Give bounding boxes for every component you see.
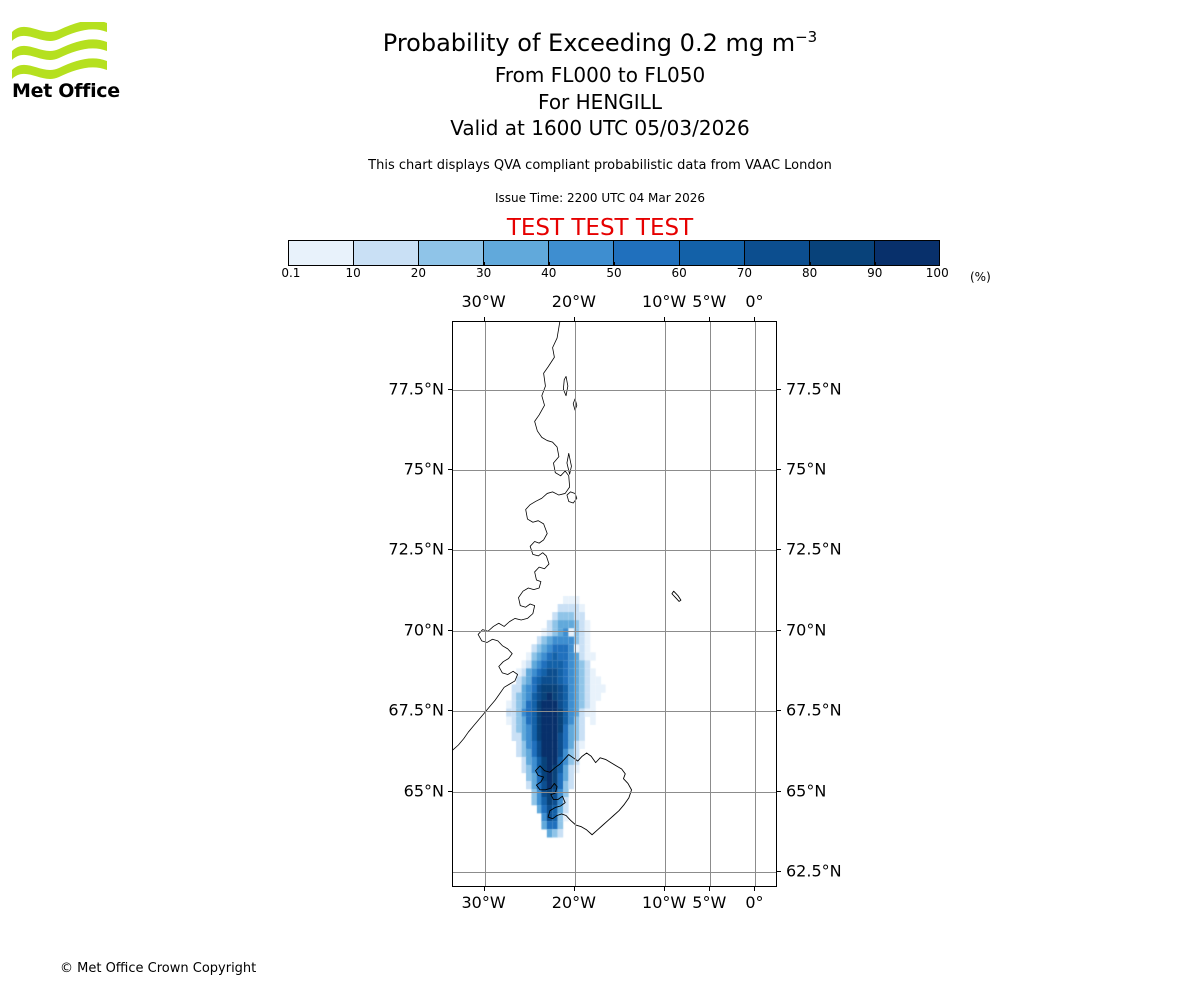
flight-level-subtitle: From FL000 to FL050	[0, 63, 1200, 87]
colorbar-tickmark-40	[549, 262, 550, 266]
colorbar-tick-50: 50	[606, 266, 621, 280]
lon-label-top-10°W: 10°W	[642, 292, 686, 311]
colorbar-tickmark-30	[484, 262, 485, 266]
lon-label-bottom-10°W: 10°W	[642, 893, 686, 912]
lat-tickmark-right-75	[777, 469, 781, 470]
gridline-lat-77.5	[453, 390, 776, 391]
lat-label-right-77.5: 77.5°N	[786, 379, 842, 398]
lat-label-left-65: 65°N	[404, 781, 444, 800]
colorbar-band-0	[289, 241, 353, 265]
colorbar-band-9	[874, 241, 939, 265]
gridline-lat-75	[453, 470, 776, 471]
lon-label-top-30°W: 30°W	[462, 292, 506, 311]
volcano-name-subtitle: For HENGILL	[0, 90, 1200, 114]
lon-tickmark-5°W-bottom	[709, 887, 710, 891]
lat-label-left-70: 70°N	[404, 620, 444, 639]
lon-tickmark-5°W-top	[709, 317, 710, 321]
lon-label-bottom-30°W: 30°W	[462, 893, 506, 912]
copyright-footer: © Met Office Crown Copyright	[60, 961, 256, 976]
lon-tickmark-0°-bottom	[754, 887, 755, 891]
lat-tickmark-left-70	[448, 630, 452, 631]
coastline-greenland-island-3	[567, 453, 571, 474]
page-title-text: Probability of Exceeding 0.2 mg m	[383, 29, 795, 57]
lat-label-left-77.5: 77.5°N	[388, 379, 444, 398]
lat-tickmark-left-65	[448, 791, 452, 792]
valid-time-subtitle: Valid at 1600 UTC 05/03/2026	[0, 116, 1200, 140]
gridline-lon-30°W	[485, 322, 486, 886]
page-title: Probability of Exceeding 0.2 mg m−3	[0, 28, 1200, 57]
gridline-lat-62.5	[453, 872, 776, 873]
colorbar-tick-70: 70	[737, 266, 752, 280]
colorbar-tickmark-100	[939, 262, 940, 266]
gridline-lat-67.5	[453, 711, 776, 712]
colorbar-units-label: (%)	[970, 270, 991, 284]
colorbar-tick-20: 20	[411, 266, 426, 280]
lon-tickmark-30°W-top	[484, 317, 485, 321]
colorbar-band-6	[679, 241, 744, 265]
colorbar-tick-30: 30	[476, 266, 491, 280]
page-title-exponent: −3	[795, 28, 817, 46]
colorbar-tick-10: 10	[346, 266, 361, 280]
lon-tickmark-0°-top	[754, 317, 755, 321]
lat-tickmark-right-67.5	[777, 710, 781, 711]
lat-tickmark-right-70	[777, 630, 781, 631]
colorbar-tickmark-50	[614, 262, 615, 266]
lon-label-bottom-5°W: 5°W	[692, 893, 726, 912]
colorbar-band-8	[809, 241, 874, 265]
lat-tickmark-right-62.5	[777, 871, 781, 872]
gridline-lat-72.5	[453, 550, 776, 551]
colorbar-band-3	[483, 241, 548, 265]
lat-label-right-75: 75°N	[786, 459, 826, 478]
chart-page: Met Office Probability of Exceeding 0.2 …	[0, 0, 1200, 1000]
lat-tickmark-left-75	[448, 469, 452, 470]
lat-tickmark-right-77.5	[777, 389, 781, 390]
lat-label-right-62.5: 62.5°N	[786, 861, 842, 880]
coastline-overlay	[453, 322, 776, 886]
map-inner	[453, 322, 776, 886]
lat-label-left-67.5: 67.5°N	[388, 701, 444, 720]
lat-tickmark-right-65	[777, 791, 781, 792]
lat-tickmark-left-72.5	[448, 549, 452, 550]
colorbar-band-7	[744, 241, 809, 265]
gridline-lon-0°	[755, 322, 756, 886]
colorbar-band-2	[418, 241, 483, 265]
colorbar-band-1	[353, 241, 418, 265]
gridline-lat-65	[453, 792, 776, 793]
colorbar-tickmark-60	[679, 262, 680, 266]
lon-label-top-0°: 0°	[745, 292, 763, 311]
issue-time-text: Issue Time: 2200 UTC 04 Mar 2026	[0, 191, 1200, 205]
lat-label-right-70: 70°N	[786, 620, 826, 639]
lat-tickmark-left-67.5	[448, 710, 452, 711]
gridline-lon-20°W	[575, 322, 576, 886]
colorbar-tickmark-20	[418, 262, 419, 266]
lon-label-bottom-0°: 0°	[745, 893, 763, 912]
qva-note: This chart displays QVA compliant probab…	[0, 158, 1200, 173]
coastline-greenland-east	[453, 322, 570, 750]
lat-label-right-65: 65°N	[786, 781, 826, 800]
colorbar-tick-80: 80	[802, 266, 817, 280]
lat-tickmark-left-77.5	[448, 389, 452, 390]
coastline-greenland-island-1	[563, 376, 567, 395]
map-plot-area	[452, 321, 777, 887]
lon-tickmark-10°W-bottom	[664, 887, 665, 891]
lat-label-right-72.5: 72.5°N	[786, 540, 842, 559]
colorbar-tick-100: 100	[926, 266, 949, 280]
test-banner: TEST TEST TEST	[0, 215, 1200, 241]
colorbar-tickmark-0.1	[288, 262, 289, 266]
colorbar-band-4	[548, 241, 613, 265]
lon-label-top-20°W: 20°W	[552, 292, 596, 311]
lon-tickmark-20°W-top	[574, 317, 575, 321]
colorbar-tick-0.1: 0.1	[281, 266, 300, 280]
colorbar-tick-40: 40	[541, 266, 556, 280]
colorbar-tickmark-10	[353, 262, 354, 266]
lon-tickmark-10°W-top	[664, 317, 665, 321]
colorbar-tick-labels: 0.1102030405060708090100	[288, 266, 940, 284]
lat-label-right-67.5: 67.5°N	[786, 701, 842, 720]
gridline-lat-70	[453, 631, 776, 632]
lon-label-bottom-20°W: 20°W	[552, 893, 596, 912]
coastline-jan-mayen	[672, 591, 681, 601]
gridline-lon-10°W	[665, 322, 666, 886]
colorbar-tickmark-80	[810, 262, 811, 266]
lon-label-top-5°W: 5°W	[692, 292, 726, 311]
colorbar-tickmark-90	[875, 262, 876, 266]
lat-tickmark-right-72.5	[777, 549, 781, 550]
lon-tickmark-20°W-bottom	[574, 887, 575, 891]
colorbar-tick-60: 60	[672, 266, 687, 280]
coastline-iceland	[536, 753, 632, 835]
colorbar-tick-90: 90	[867, 266, 882, 280]
colorbar-tickmark-70	[744, 262, 745, 266]
lon-tickmark-30°W-bottom	[484, 887, 485, 891]
gridline-lon-5°W	[710, 322, 711, 886]
lat-label-left-75: 75°N	[404, 459, 444, 478]
colorbar-band-5	[613, 241, 678, 265]
lat-label-left-72.5: 72.5°N	[388, 540, 444, 559]
